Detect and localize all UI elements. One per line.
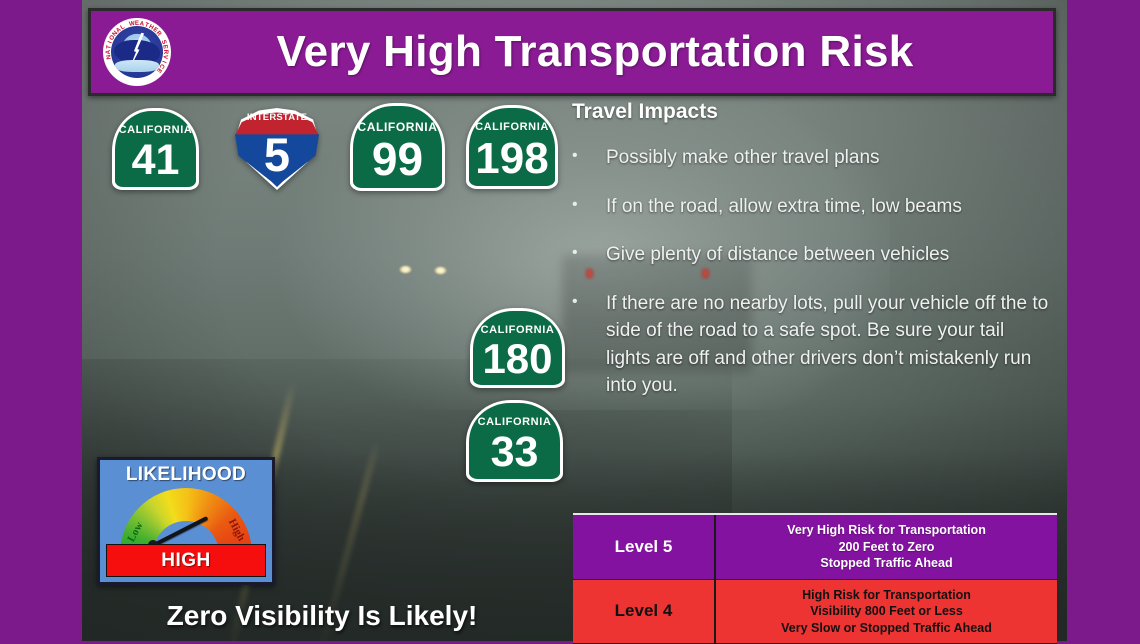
shield-interstate-label: INTERSTATE <box>232 112 322 123</box>
risk-level-description: High Risk for TransportationVisibility 8… <box>716 580 1057 644</box>
risk-description-line: Very High Risk for Transportation <box>720 522 1053 539</box>
shield-route-number: 99 <box>353 136 442 182</box>
bullet-dot-icon: • <box>572 241 606 269</box>
route-shield-ca-180: CALIFORNIA180 <box>470 308 565 388</box>
route-shield-ca-198: CALIFORNIA198 <box>466 105 558 189</box>
risk-level-label: Level 4 <box>573 580 716 644</box>
nws-logo-icon: NATIONAL WEATHER SERVICE <box>103 18 171 86</box>
california-shield-graphic: CALIFORNIA41 <box>112 108 199 190</box>
risk-description-line: Very Slow or Stopped Traffic Ahead <box>720 620 1053 637</box>
california-shield-graphic: CALIFORNIA180 <box>470 308 565 388</box>
likelihood-gauge-panel: LIKELIHOOD Low High HIGH <box>97 457 275 585</box>
interstate-shield-graphic: INTERSTATE5 <box>232 108 322 190</box>
california-shield-graphic: CALIFORNIA99 <box>350 103 445 191</box>
impact-bullet-item: •If there are no nearby lots, pull your … <box>572 290 1052 400</box>
impact-bullet-text: Possibly make other travel plans <box>606 144 1052 172</box>
shield-state-label: CALIFORNIA <box>115 124 196 136</box>
likelihood-title: LIKELIHOOD <box>100 464 272 486</box>
frame-right-purple <box>1067 0 1140 641</box>
bullet-dot-icon: • <box>572 290 606 400</box>
travel-impacts-list: •Possibly make other travel plans•If on … <box>572 144 1052 400</box>
shield-route-number: 33 <box>469 431 560 474</box>
impact-bullet-item: •If on the road, allow extra time, low b… <box>572 193 1052 221</box>
page-title: Very High Transportation Risk <box>171 27 1019 77</box>
risk-table-row: Level 4High Risk for TransportationVisib… <box>573 580 1057 644</box>
impact-bullet-item: •Give plenty of distance between vehicle… <box>572 241 1052 269</box>
risk-table-row: Level 5Very High Risk for Transportation… <box>573 515 1057 580</box>
zero-visibility-caption: Zero Visibility Is Likely! <box>82 600 562 632</box>
shield-state-label: CALIFORNIA <box>353 120 442 134</box>
frame-left-purple <box>0 0 82 641</box>
route-shield-ca-41: CALIFORNIA41 <box>112 108 199 190</box>
likelihood-value-badge: HIGH <box>106 544 266 577</box>
route-shield-ca-33: CALIFORNIA33 <box>466 400 563 482</box>
risk-description-line: High Risk for Transportation <box>720 587 1053 604</box>
impact-bullet-text: If there are no nearby lots, pull your v… <box>606 290 1052 400</box>
travel-impacts-panel: Travel Impacts •Possibly make other trav… <box>572 100 1052 421</box>
shield-state-label: CALIFORNIA <box>469 416 560 428</box>
shield-route-number: 198 <box>469 137 555 181</box>
shield-route-number: 41 <box>115 139 196 182</box>
california-shield-graphic: CALIFORNIA33 <box>466 400 563 482</box>
bullet-dot-icon: • <box>572 193 606 221</box>
risk-description-line: Stopped Traffic Ahead <box>720 555 1053 572</box>
risk-description-line: 200 Feet to Zero <box>720 539 1053 556</box>
route-shield-ca-99: CALIFORNIA99 <box>350 103 445 191</box>
california-shield-graphic: CALIFORNIA198 <box>466 105 558 189</box>
shield-state-label: CALIFORNIA <box>469 121 555 133</box>
risk-level-table: Level 5Very High Risk for Transportation… <box>573 513 1057 644</box>
risk-level-description: Very High Risk for Transportation200 Fee… <box>716 515 1057 579</box>
shield-route-number: 180 <box>473 338 562 380</box>
route-shield-i-5: INTERSTATE5 <box>232 108 322 190</box>
travel-impacts-title: Travel Impacts <box>572 100 1052 124</box>
impact-bullet-item: •Possibly make other travel plans <box>572 144 1052 172</box>
header-banner: NATIONAL WEATHER SERVICE Very High Trans… <box>88 8 1056 96</box>
impact-bullet-text: If on the road, allow extra time, low be… <box>606 193 1052 221</box>
risk-description-line: Visibility 800 Feet or Less <box>720 603 1053 620</box>
impact-bullet-text: Give plenty of distance between vehicles <box>606 241 1052 269</box>
bullet-dot-icon: • <box>572 144 606 172</box>
shield-route-number: 5 <box>232 131 322 178</box>
risk-level-label: Level 5 <box>573 515 716 579</box>
